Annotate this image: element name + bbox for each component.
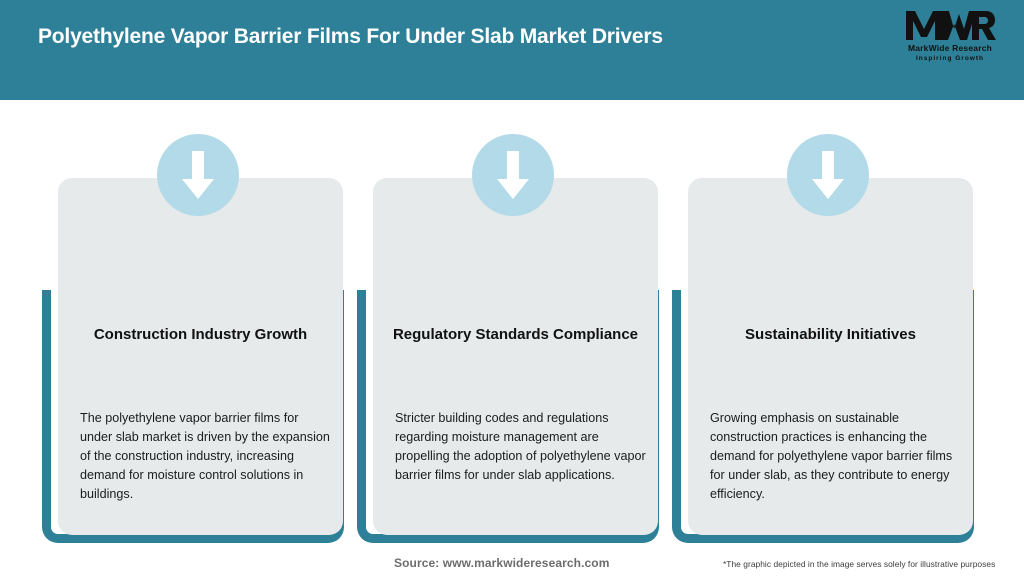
infographic-page: Polyethylene Vapor Barrier Films For Und… [0,0,1024,576]
driver-cards-container: Construction Industry Growth The polyeth… [0,100,1024,540]
card-body-text: The polyethylene vapor barrier films for… [80,409,333,504]
mwr-logo-icon [904,8,996,42]
logo-company-name: MarkWide Research [898,43,1002,54]
card-panel: Regulatory Standards Compliance Stricter… [373,178,658,535]
down-arrow-icon [157,134,239,216]
driver-card-1: Construction Industry Growth The polyeth… [38,100,358,540]
down-arrow-glyph [493,149,533,201]
card-heading: Sustainability Initiatives [700,324,961,345]
page-title: Polyethylene Vapor Barrier Films For Und… [38,24,858,50]
driver-card-3: Sustainability Initiatives Growing empha… [668,100,988,540]
illustrative-disclaimer: *The graphic depicted in the image serve… [723,559,995,569]
card-body-text: Growing emphasis on sustainable construc… [710,409,963,504]
down-arrow-glyph [178,149,218,201]
card-panel: Sustainability Initiatives Growing empha… [688,178,973,535]
brand-logo: MarkWide Research Inspiring Growth [898,8,1002,70]
header-bar: Polyethylene Vapor Barrier Films For Und… [0,0,1024,100]
down-arrow-icon [472,134,554,216]
down-arrow-icon [787,134,869,216]
card-body-text: Stricter building codes and regulations … [395,409,648,485]
driver-card-2: Regulatory Standards Compliance Stricter… [353,100,673,540]
card-panel: Construction Industry Growth The polyeth… [58,178,343,535]
logo-tagline: Inspiring Growth [898,54,1002,63]
card-heading: Construction Industry Growth [70,324,331,345]
down-arrow-glyph [808,149,848,201]
card-heading: Regulatory Standards Compliance [385,324,646,345]
source-attribution: Source: www.markwideresearch.com [394,556,610,570]
